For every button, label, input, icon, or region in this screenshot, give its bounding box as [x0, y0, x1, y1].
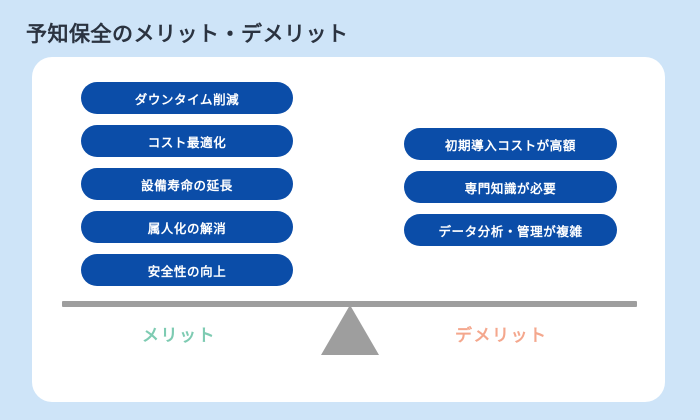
page-title: 予知保全のメリット・デメリット	[26, 18, 349, 48]
demerit-pill: 専門知識が必要	[404, 171, 617, 203]
balance-fulcrum-icon	[321, 305, 379, 355]
merit-pill: 属人化の解消	[81, 211, 293, 243]
merit-side-label: メリット	[142, 321, 216, 346]
merit-pill: コスト最適化	[81, 125, 293, 157]
merit-pill: 設備寿命の延長	[81, 168, 293, 200]
demerit-side-label: デメリット	[455, 321, 548, 346]
merit-pill-column: ダウンタイム削減 コスト最適化 設備寿命の延長 属人化の解消 安全性の向上	[81, 82, 293, 286]
demerit-pill-column: 初期導入コストが高額 専門知識が必要 データ分析・管理が複雑	[404, 128, 617, 246]
content-card: ダウンタイム削減 コスト最適化 設備寿命の延長 属人化の解消 安全性の向上 初期…	[32, 57, 665, 402]
demerit-pill: データ分析・管理が複雑	[404, 214, 617, 246]
demerit-pill: 初期導入コストが高額	[404, 128, 617, 160]
merit-pill: 安全性の向上	[81, 254, 293, 286]
merit-pill: ダウンタイム削減	[81, 82, 293, 114]
